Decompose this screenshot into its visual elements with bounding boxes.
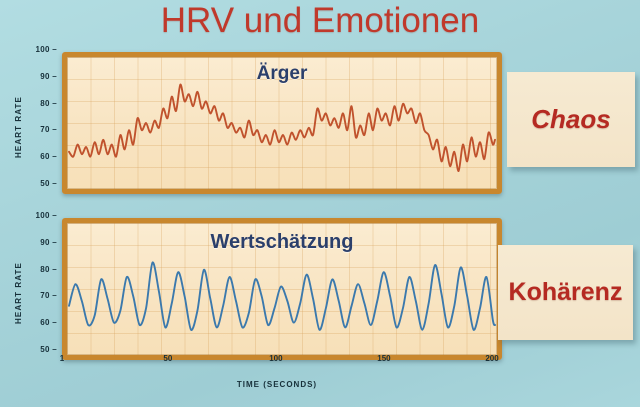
x-tick-label: 100: [269, 354, 282, 363]
y-axis-top: 100 –90 –80 –70 –60 –50 –: [5, 45, 57, 191]
y-tick-label: 50 –: [40, 179, 57, 188]
x-tick-label: 50: [163, 354, 172, 363]
y-tick-label: 50 –: [40, 345, 57, 354]
y-tick-label: 90 –: [40, 72, 57, 81]
x-tick-label: 1: [60, 354, 64, 363]
y-tick-label: 70 –: [40, 125, 57, 134]
x-axis-title: TIME (SECONDS): [62, 380, 492, 389]
page-title: HRV und Emotionen: [0, 1, 640, 41]
y-axis-title-top: HEART RATE: [14, 96, 23, 158]
appreciation-hrv-trace: [67, 223, 497, 355]
x-tick-label: 200: [485, 354, 498, 363]
y-tick-label: 100 –: [35, 45, 57, 54]
y-tick-label: 80 –: [40, 99, 57, 108]
card-coherence: Kohärenz: [498, 245, 633, 340]
chart-panel-appreciation: Wertschätzung: [62, 218, 502, 360]
y-tick-label: 100 –: [35, 211, 57, 220]
card-coherence-label: Kohärenz: [509, 278, 623, 307]
anger-hrv-trace: [67, 57, 497, 189]
y-tick-label: 60 –: [40, 152, 57, 161]
card-chaos-label: Chaos: [531, 104, 610, 135]
y-tick-label: 80 –: [40, 265, 57, 274]
y-axis-bottom: 100 –90 –80 –70 –60 –50 –: [5, 211, 57, 357]
chart-panel-anger: Ärger: [62, 52, 502, 194]
y-tick-label: 60 –: [40, 318, 57, 327]
y-tick-label: 90 –: [40, 238, 57, 247]
card-chaos: Chaos: [507, 72, 635, 167]
x-axis: 150100150200: [62, 354, 492, 370]
y-tick-label: 70 –: [40, 291, 57, 300]
x-tick-label: 150: [377, 354, 390, 363]
y-axis-title-bottom: HEART RATE: [14, 262, 23, 324]
